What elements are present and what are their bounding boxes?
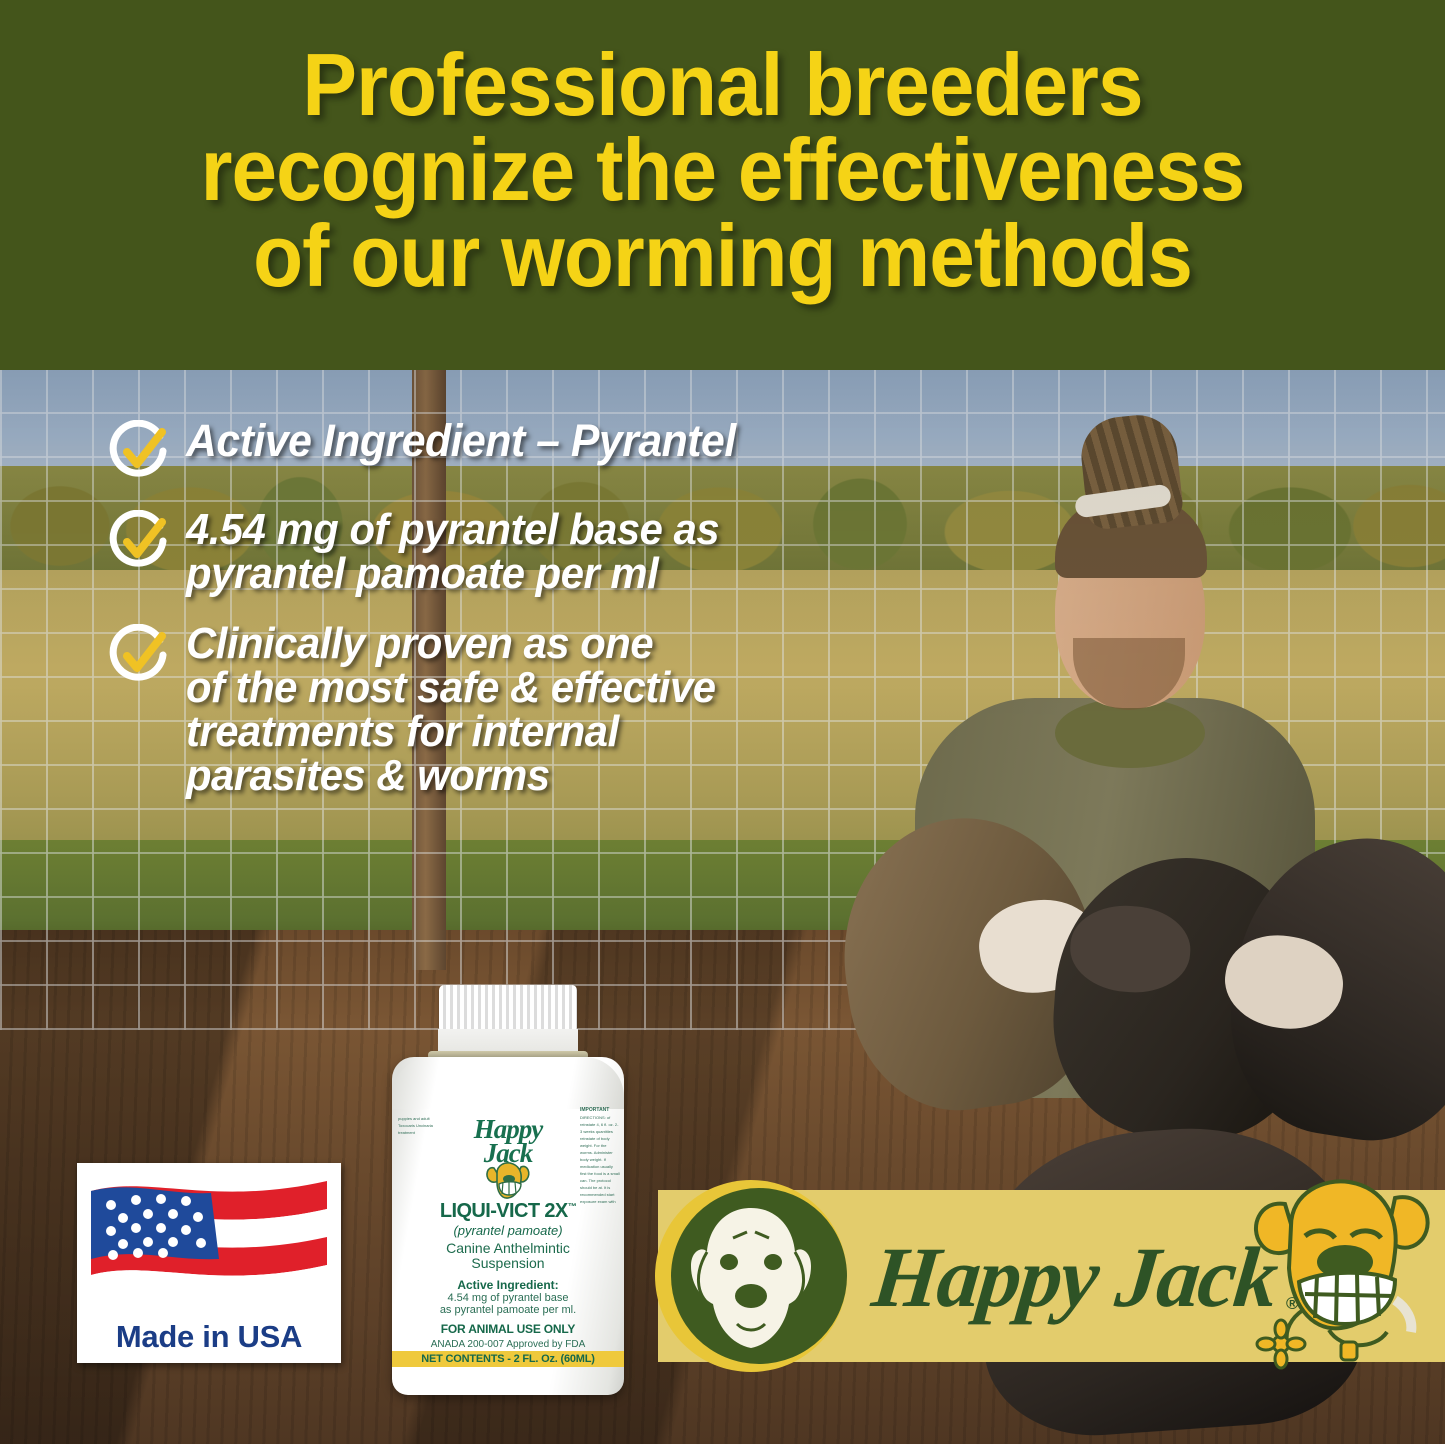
bottle-net-contents: NET CONTENTS - 2 FL. Oz. (60ML) (421, 1353, 594, 1365)
bottle-description-line-2: Suspension (392, 1256, 624, 1271)
bottle-shoulder (392, 1057, 624, 1109)
bottle-product-sub: (pyrantel pamoate) (392, 1223, 624, 1238)
bottle-active-line-1: 4.54 mg of pyrantel base (392, 1292, 624, 1304)
bottle-description: Canine Anthelmintic Suspension (392, 1241, 624, 1271)
check-circle-icon (108, 420, 170, 482)
us-flag-icon (91, 1173, 327, 1303)
beagle-head-logo-icon (651, 1176, 851, 1376)
bullet-3-line-4: parasites & worms (186, 754, 715, 798)
bottle-active-heading: Active Ingredient: (392, 1278, 624, 1292)
brand-banner: Happy Jack ® (658, 1190, 1445, 1362)
bottle-product-name: LIQUI-VICT 2X™ (392, 1200, 624, 1223)
bottle-active-line-2: as pyrantel pamoate per ml. (392, 1304, 624, 1316)
list-item-text: Active Ingredient – Pyrantel (186, 418, 736, 463)
bottle-anada: ANADA 200-007 Approved by FDA (392, 1339, 624, 1350)
page-title: Professional breeders recognize the effe… (51, 0, 1395, 298)
bottle-product-name-text: LIQUI-VICT 2X (440, 1200, 568, 1222)
bottle-product-tm: ™ (568, 1201, 576, 1211)
title-line-3: of our worming methods (88, 213, 1357, 298)
bullet-1-line-1: Active Ingredient – Pyrantel (186, 418, 736, 463)
title-line-1: Professional breeders (88, 42, 1357, 127)
bottle-cap (439, 985, 577, 1033)
list-item: Clinically proven as one of the most saf… (108, 622, 928, 798)
check-circle-icon (108, 510, 170, 572)
bullet-2-line-2: pyrantel pamoate per ml (186, 552, 719, 596)
bottle-brand-logo: Happy Jack (392, 1117, 624, 1165)
list-item: 4.54 mg of pyrantel base as pyrantel pam… (108, 508, 928, 596)
feature-list: Active Ingredient – Pyrantel 4.54 mg of … (108, 418, 928, 824)
bottle-animal-use: FOR ANIMAL USE ONLY (392, 1322, 624, 1336)
bottle-net-contents-band: NET CONTENTS - 2 FL. Oz. (60ML) (392, 1351, 624, 1367)
bullet-3-line-3: treatments for internal (186, 710, 715, 754)
bullet-2-line-1: 4.54 mg of pyrantel base as (186, 508, 719, 552)
made-in-usa-badge: Made in USA (77, 1163, 341, 1363)
bottle-description-line-1: Canine Anthelmintic (392, 1241, 624, 1256)
made-in-usa-label: Made in USA (77, 1319, 341, 1355)
bullet-3-line-2: of the most safe & effective (186, 666, 715, 710)
list-item-text: Clinically proven as one of the most saf… (186, 622, 715, 798)
header-banner: Professional breeders recognize the effe… (0, 0, 1445, 370)
title-line-2: recognize the effectiveness (88, 127, 1357, 212)
bottle-cartoon-dog-icon (485, 1161, 531, 1201)
check-circle-icon (108, 624, 170, 686)
list-item-text: 4.54 mg of pyrantel base as pyrantel pam… (186, 508, 719, 596)
product-bottle: puppies and adult Toxocaris Uncinaria tr… (392, 985, 624, 1395)
brand-wordmark: Happy Jack (867, 1218, 1299, 1336)
bullet-3-line-1: Clinically proven as one (186, 622, 715, 666)
product-marketing-image: Professional breeders recognize the effe… (0, 0, 1445, 1444)
list-item: Active Ingredient – Pyrantel (108, 418, 928, 482)
cartoon-dog-icon (1245, 1174, 1441, 1379)
